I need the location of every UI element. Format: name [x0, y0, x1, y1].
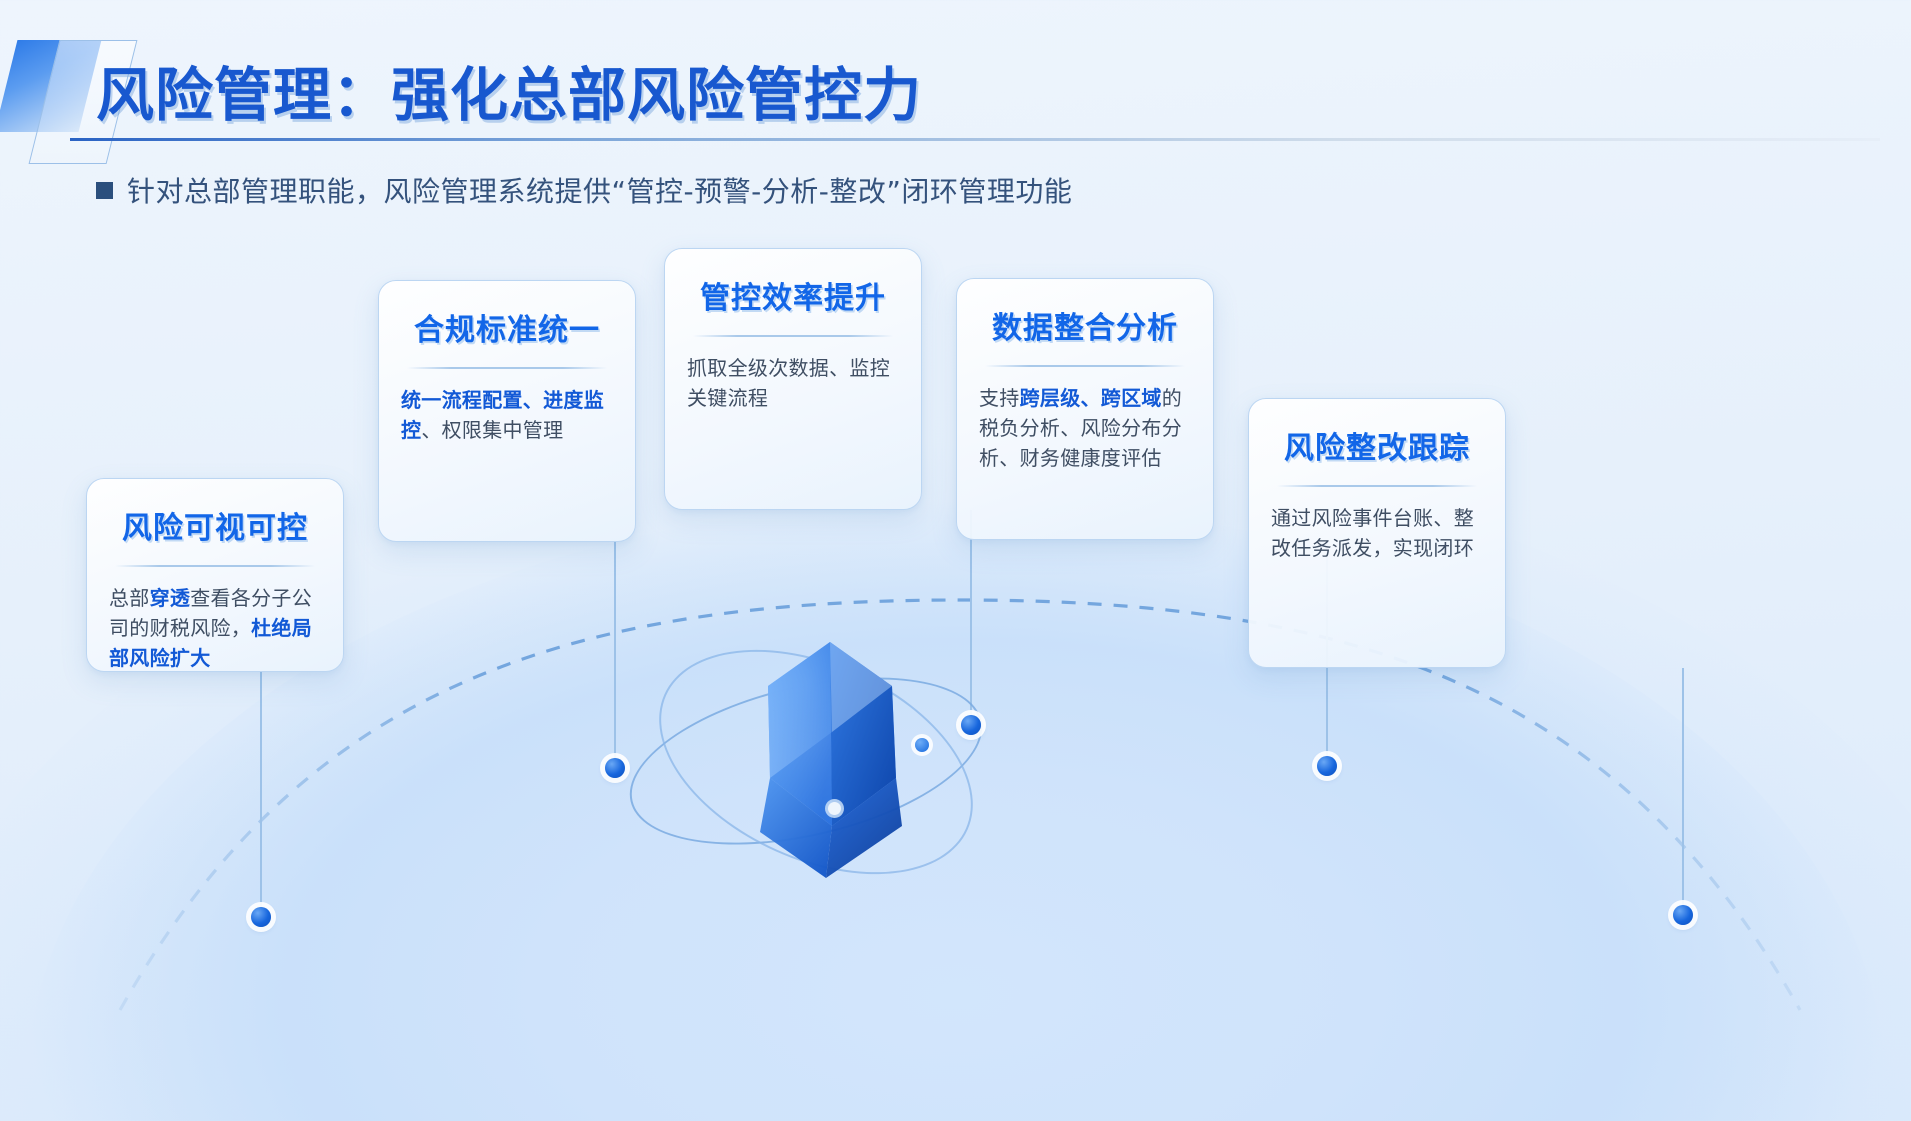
page-header: 风险管理：强化总部风险管控力 针对总部管理职能，风险管理系统提供“管控-预警-分…	[0, 18, 1911, 168]
card-title: 风险整改跟踪	[1271, 423, 1483, 467]
connector-node-3	[961, 715, 981, 735]
card-body: 统一流程配置、进度监控、权限集中管理	[401, 385, 613, 446]
card-divider	[407, 367, 607, 369]
feature-card-data-integration[interactable]: 数据整合分析 支持跨层级、跨区域的税负分析、风险分布分析、财务健康度评估	[956, 278, 1214, 540]
card-title: 数据整合分析	[979, 303, 1191, 347]
card-body: 抓取全级次数据、监控关键流程	[687, 353, 899, 414]
square-bullet-icon	[96, 182, 113, 199]
card-title: 风险可视可控	[109, 503, 321, 547]
page-title: 风险管理：强化总部风险管控力	[96, 48, 922, 132]
card-divider	[1277, 485, 1477, 487]
card-divider	[693, 335, 893, 337]
card-title: 管控效率提升	[687, 273, 899, 317]
card-body: 支持跨层级、跨区域的税负分析、风险分布分析、财务健康度评估	[979, 383, 1191, 474]
orbit-dot-primary	[915, 738, 929, 752]
feature-card-compliance-standard[interactable]: 合规标准统一 统一流程配置、进度监控、权限集中管理	[378, 280, 636, 542]
subtitle-row: 针对总部管理职能，风险管理系统提供“管控-预警-分析-整改”闭环管理功能	[96, 170, 1072, 210]
connector-node-1	[251, 907, 271, 927]
page-subtitle: 针对总部管理职能，风险管理系统提供“管控-预警-分析-整改”闭环管理功能	[127, 170, 1072, 210]
feature-card-risk-visibility[interactable]: 风险可视可控 总部穿透查看各分子公司的财税风险，杜绝局部风险扩大	[86, 478, 344, 672]
card-body: 通过风险事件台账、整改任务派发，实现闭环	[1271, 503, 1483, 564]
feature-card-remediation-tracking[interactable]: 风险整改跟踪 通过风险事件台账、整改任务派发，实现闭环	[1248, 398, 1506, 668]
polyhedron-gem-icon	[620, 620, 1040, 920]
title-divider	[70, 138, 1880, 141]
center-graphic	[620, 620, 1040, 920]
card-title: 合规标准统一	[401, 305, 613, 349]
connector-node-2	[605, 758, 625, 778]
connector-node-4	[1317, 756, 1337, 776]
orbit-dot-secondary	[828, 802, 841, 815]
card-divider	[985, 365, 1185, 367]
card-body: 总部穿透查看各分子公司的财税风险，杜绝局部风险扩大	[109, 583, 321, 674]
connector-node-5	[1673, 905, 1693, 925]
card-divider	[115, 565, 315, 567]
feature-card-control-efficiency[interactable]: 管控效率提升 抓取全级次数据、监控关键流程	[664, 248, 922, 510]
